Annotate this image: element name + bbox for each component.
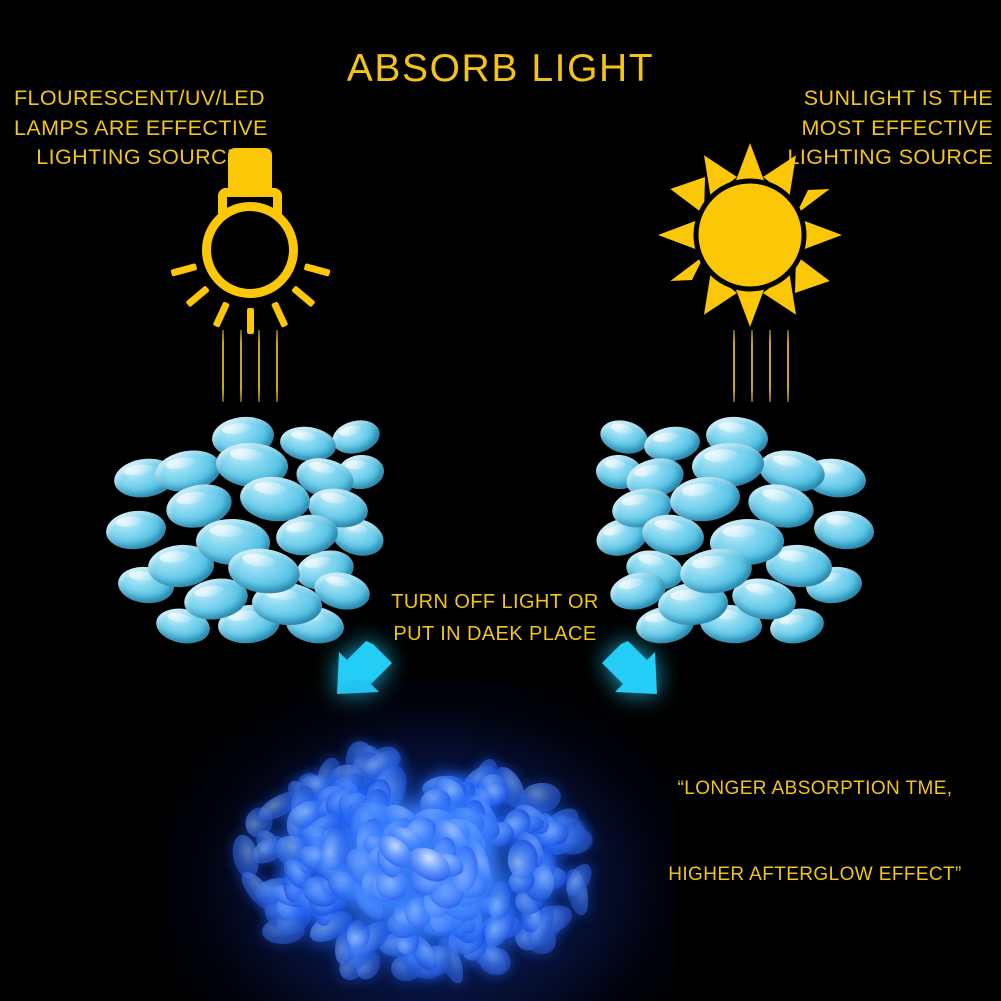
pebble xyxy=(104,508,168,552)
light-ray-lines-icon xyxy=(222,330,280,402)
lightbulb-icon xyxy=(150,140,350,330)
lightbulb-ray xyxy=(291,285,315,307)
blue-pebble-pile-left xyxy=(100,415,365,630)
lightbulb-ray xyxy=(212,301,229,328)
sun-icon xyxy=(655,140,845,330)
glowing-pebble xyxy=(507,838,538,878)
lightbulb-ray xyxy=(170,263,197,276)
lightbulb-ray xyxy=(270,301,287,328)
lightbulb-glass xyxy=(202,202,298,298)
pebble xyxy=(597,416,651,459)
infographic-canvas: ABSORB LIGHT FLOURESCENT/UV/LED LAMPS AR… xyxy=(0,0,1001,1001)
light-ray-lines-icon xyxy=(733,330,791,402)
pebble xyxy=(812,508,876,552)
blue-pebble-pile-right xyxy=(615,415,880,630)
glowing-blue-pebble-pile xyxy=(205,690,635,1001)
lightbulb-ray xyxy=(185,285,209,307)
afterglow-quote: “LONGER ABSORPTION TME, HIGHER AFTERGLOW… xyxy=(640,768,990,896)
pebble xyxy=(329,416,383,459)
lightbulb-ray xyxy=(303,263,330,276)
